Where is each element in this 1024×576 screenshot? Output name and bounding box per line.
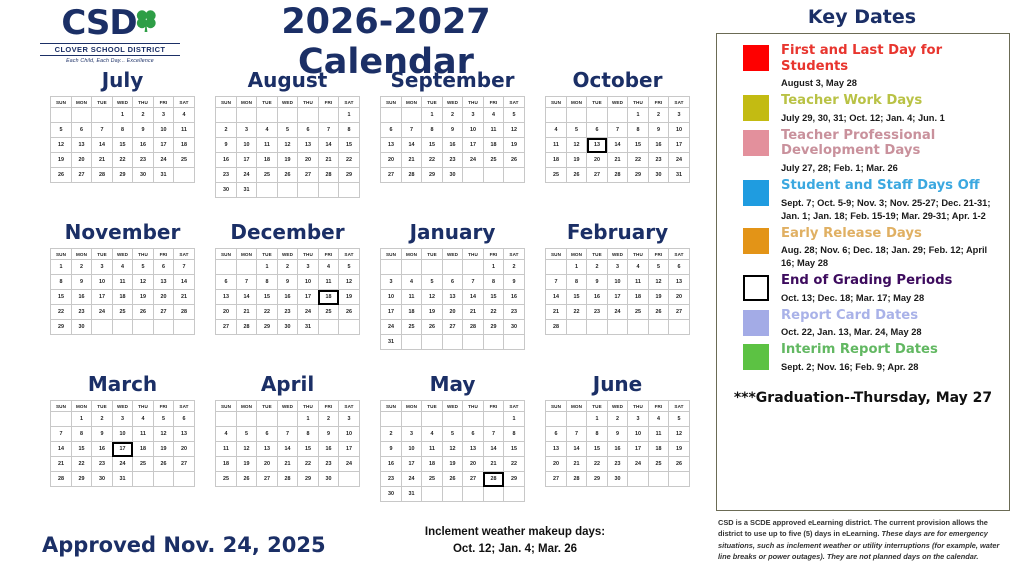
day-cell[interactable]: 15	[71, 442, 92, 457]
day-cell[interactable]: 4	[401, 275, 422, 290]
day-cell[interactable]: 23	[587, 305, 608, 320]
day-cell[interactable]: 9	[133, 123, 154, 138]
day-cell[interactable]: 24	[236, 168, 257, 183]
day-cell[interactable]: 10	[669, 123, 690, 138]
day-cell[interactable]: 10	[298, 275, 319, 290]
day-cell[interactable]: 6	[546, 427, 567, 442]
day-cell[interactable]: 23	[133, 153, 154, 168]
day-cell[interactable]: 13	[669, 275, 690, 290]
day-cell[interactable]: 15	[298, 442, 319, 457]
day-cell[interactable]: 5	[153, 412, 174, 427]
day-cell[interactable]: 15	[628, 138, 649, 153]
day-cell[interactable]: 22	[71, 457, 92, 472]
day-cell[interactable]: 16	[92, 442, 113, 457]
day-cell[interactable]: 4	[648, 412, 669, 427]
day-cell[interactable]: 14	[236, 290, 257, 305]
day-cell[interactable]: 2	[318, 412, 339, 427]
day-cell[interactable]: 4	[483, 108, 504, 123]
day-cell[interactable]: 24	[339, 457, 360, 472]
day-cell[interactable]: 17	[607, 290, 628, 305]
day-cell[interactable]: 29	[483, 320, 504, 335]
day-cell[interactable]: 30	[71, 320, 92, 335]
day-cell[interactable]: 22	[628, 153, 649, 168]
day-cell[interactable]: 26	[669, 457, 690, 472]
day-cell[interactable]: 1	[422, 108, 443, 123]
day-cell[interactable]: 20	[546, 457, 567, 472]
day-cell[interactable]: 18	[257, 153, 278, 168]
day-cell[interactable]: 15	[422, 138, 443, 153]
day-cell[interactable]: 26	[648, 305, 669, 320]
day-cell[interactable]: 19	[504, 138, 525, 153]
day-cell[interactable]: 1	[504, 412, 525, 427]
day-cell[interactable]: 5	[277, 123, 298, 138]
day-cell[interactable]: 25	[174, 153, 195, 168]
day-cell[interactable]: 9	[607, 427, 628, 442]
day-cell[interactable]: 21	[318, 153, 339, 168]
day-cell[interactable]: 16	[133, 138, 154, 153]
day-cell[interactable]: 19	[669, 442, 690, 457]
day-cell[interactable]: 28	[318, 168, 339, 183]
day-cell[interactable]: 10	[401, 442, 422, 457]
day-cell[interactable]: 9	[71, 275, 92, 290]
day-cell[interactable]: 31	[112, 472, 133, 487]
day-cell[interactable]: 11	[628, 275, 649, 290]
day-cell[interactable]: 7	[607, 123, 628, 138]
day-cell[interactable]: 1	[483, 260, 504, 275]
day-cell[interactable]: 26	[51, 168, 72, 183]
day-cell[interactable]: 27	[174, 457, 195, 472]
day-cell[interactable]: 25	[422, 472, 443, 487]
day-cell[interactable]: 21	[277, 457, 298, 472]
day-cell[interactable]: 2	[216, 123, 237, 138]
day-cell[interactable]: 4	[257, 123, 278, 138]
day-cell[interactable]: 24	[112, 457, 133, 472]
day-cell[interactable]: 21	[236, 305, 257, 320]
day-cell[interactable]: 10	[92, 275, 113, 290]
day-cell[interactable]: 18	[628, 290, 649, 305]
day-cell[interactable]: 5	[648, 260, 669, 275]
day-cell[interactable]: 8	[587, 427, 608, 442]
day-cell[interactable]: 3	[298, 260, 319, 275]
day-cell[interactable]: 20	[71, 153, 92, 168]
day-cell[interactable]: 29	[628, 168, 649, 183]
day-cell[interactable]: 7	[277, 427, 298, 442]
day-cell[interactable]: 4	[628, 260, 649, 275]
day-cell[interactable]: 9	[381, 442, 402, 457]
day-cell[interactable]: 2	[607, 412, 628, 427]
day-cell[interactable]: 13	[442, 290, 463, 305]
day-cell[interactable]: 11	[422, 442, 443, 457]
day-cell[interactable]: 16	[381, 457, 402, 472]
day-cell[interactable]: 28	[236, 320, 257, 335]
day-cell[interactable]: 27	[257, 472, 278, 487]
day-cell[interactable]: 22	[587, 457, 608, 472]
day-cell[interactable]: 29	[112, 168, 133, 183]
day-cell[interactable]: 15	[587, 442, 608, 457]
day-cell[interactable]: 1	[587, 412, 608, 427]
day-cell[interactable]: 26	[236, 472, 257, 487]
day-cell[interactable]: 10	[339, 427, 360, 442]
day-cell[interactable]: 28	[546, 320, 567, 335]
day-cell[interactable]: 30	[648, 168, 669, 183]
day-cell[interactable]: 7	[546, 275, 567, 290]
day-cell[interactable]: 2	[442, 108, 463, 123]
day-cell[interactable]: 7	[236, 275, 257, 290]
day-cell[interactable]: 27	[587, 168, 608, 183]
day-cell[interactable]: 31	[401, 487, 422, 502]
day-cell[interactable]: 18	[133, 442, 154, 457]
day-cell[interactable]: 12	[442, 442, 463, 457]
day-cell[interactable]: 17	[628, 442, 649, 457]
day-cell[interactable]: 10	[628, 427, 649, 442]
day-cell[interactable]: 13	[546, 442, 567, 457]
day-cell[interactable]: 1	[257, 260, 278, 275]
day-cell[interactable]: 12	[669, 427, 690, 442]
day-cell[interactable]: 19	[153, 442, 174, 457]
day-cell[interactable]: 19	[566, 153, 587, 168]
day-cell[interactable]: 22	[422, 153, 443, 168]
day-cell[interactable]: 30	[133, 168, 154, 183]
day-cell[interactable]: 8	[483, 275, 504, 290]
day-cell[interactable]: 14	[607, 138, 628, 153]
day-cell[interactable]: 26	[504, 153, 525, 168]
day-cell[interactable]: 3	[401, 427, 422, 442]
day-cell[interactable]: 7	[566, 427, 587, 442]
day-cell[interactable]: 2	[587, 260, 608, 275]
day-cell[interactable]: 19	[648, 290, 669, 305]
day-cell[interactable]: 2	[71, 260, 92, 275]
day-cell[interactable]: 21	[51, 457, 72, 472]
day-cell[interactable]: 1	[298, 412, 319, 427]
day-cell[interactable]: 19	[236, 457, 257, 472]
day-cell[interactable]: 10	[607, 275, 628, 290]
day-cell[interactable]: 25	[318, 305, 339, 320]
day-cell[interactable]: 5	[133, 260, 154, 275]
day-cell[interactable]: 14	[318, 138, 339, 153]
day-cell[interactable]: 20	[442, 305, 463, 320]
day-cell[interactable]: 18	[174, 138, 195, 153]
day-cell[interactable]: 1	[51, 260, 72, 275]
day-cell[interactable]: 28	[277, 472, 298, 487]
day-cell[interactable]: 3	[236, 123, 257, 138]
day-cell[interactable]: 11	[216, 442, 237, 457]
day-cell[interactable]: 4	[133, 412, 154, 427]
day-cell[interactable]: 11	[112, 275, 133, 290]
day-cell[interactable]: 26	[339, 305, 360, 320]
day-cell[interactable]: 8	[339, 123, 360, 138]
day-cell[interactable]: 28	[566, 472, 587, 487]
day-cell[interactable]: 2	[381, 427, 402, 442]
day-cell[interactable]: 9	[277, 275, 298, 290]
day-cell[interactable]: 23	[648, 153, 669, 168]
day-cell[interactable]: 14	[174, 275, 195, 290]
day-cell[interactable]: 31	[381, 335, 402, 350]
day-cell[interactable]: 23	[381, 472, 402, 487]
day-cell[interactable]: 30	[92, 472, 113, 487]
day-cell[interactable]: 16	[71, 290, 92, 305]
day-cell[interactable]: 18	[422, 457, 443, 472]
day-cell[interactable]: 9	[587, 275, 608, 290]
day-cell[interactable]: 21	[566, 457, 587, 472]
day-cell[interactable]: 23	[71, 305, 92, 320]
day-cell[interactable]: 11	[318, 275, 339, 290]
day-cell[interactable]: 5	[504, 108, 525, 123]
day-cell[interactable]: 13	[216, 290, 237, 305]
day-cell[interactable]: 13	[174, 427, 195, 442]
day-cell[interactable]: 23	[318, 457, 339, 472]
day-cell[interactable]: 1	[71, 412, 92, 427]
day-cell[interactable]: 17	[153, 138, 174, 153]
day-cell[interactable]: 22	[504, 457, 525, 472]
day-cell[interactable]: 4	[216, 427, 237, 442]
day-cell[interactable]: 2	[277, 260, 298, 275]
day-cell[interactable]: 6	[298, 123, 319, 138]
day-cell[interactable]: 18	[318, 290, 339, 305]
day-cell[interactable]: 16	[216, 153, 237, 168]
day-cell[interactable]: 17	[463, 138, 484, 153]
day-cell[interactable]: 23	[442, 153, 463, 168]
day-cell[interactable]: 14	[483, 442, 504, 457]
day-cell[interactable]: 20	[174, 442, 195, 457]
day-cell[interactable]: 3	[381, 275, 402, 290]
day-cell[interactable]: 29	[298, 472, 319, 487]
day-cell[interactable]: 26	[277, 168, 298, 183]
day-cell[interactable]: 23	[92, 457, 113, 472]
day-cell[interactable]: 11	[546, 138, 567, 153]
day-cell[interactable]: 20	[153, 290, 174, 305]
day-cell[interactable]: 27	[463, 472, 484, 487]
day-cell[interactable]: 28	[401, 168, 422, 183]
day-cell[interactable]: 14	[92, 138, 113, 153]
day-cell[interactable]: 15	[504, 442, 525, 457]
day-cell[interactable]: 14	[566, 442, 587, 457]
day-cell[interactable]: 28	[51, 472, 72, 487]
day-cell[interactable]: 6	[216, 275, 237, 290]
day-cell[interactable]: 25	[648, 457, 669, 472]
day-cell[interactable]: 6	[442, 275, 463, 290]
day-cell[interactable]: 20	[216, 305, 237, 320]
day-cell[interactable]: 5	[442, 427, 463, 442]
day-cell[interactable]: 15	[566, 290, 587, 305]
day-cell[interactable]: 14	[546, 290, 567, 305]
day-cell[interactable]: 31	[669, 168, 690, 183]
day-cell[interactable]: 24	[607, 305, 628, 320]
day-cell[interactable]: 27	[669, 305, 690, 320]
day-cell[interactable]: 30	[216, 183, 237, 198]
day-cell[interactable]: 10	[112, 427, 133, 442]
day-cell[interactable]: 16	[607, 442, 628, 457]
day-cell[interactable]: 27	[381, 168, 402, 183]
day-cell[interactable]: 3	[153, 108, 174, 123]
day-cell[interactable]: 12	[277, 138, 298, 153]
day-cell[interactable]: 1	[112, 108, 133, 123]
day-cell[interactable]: 19	[442, 457, 463, 472]
day-cell[interactable]: 24	[381, 320, 402, 335]
day-cell[interactable]: 6	[587, 123, 608, 138]
day-cell[interactable]: 24	[669, 153, 690, 168]
day-cell[interactable]: 9	[318, 427, 339, 442]
day-cell[interactable]: 9	[504, 275, 525, 290]
day-cell[interactable]: 17	[381, 305, 402, 320]
day-cell[interactable]: 22	[566, 305, 587, 320]
day-cell[interactable]: 27	[298, 168, 319, 183]
day-cell[interactable]: 12	[422, 290, 443, 305]
day-cell[interactable]: 13	[463, 442, 484, 457]
day-cell[interactable]: 18	[216, 457, 237, 472]
day-cell[interactable]: 1	[628, 108, 649, 123]
day-cell[interactable]: 8	[566, 275, 587, 290]
day-cell[interactable]: 26	[153, 457, 174, 472]
day-cell[interactable]: 10	[153, 123, 174, 138]
day-cell[interactable]: 19	[51, 153, 72, 168]
day-cell[interactable]: 16	[318, 442, 339, 457]
day-cell[interactable]: 10	[381, 290, 402, 305]
day-cell[interactable]: 21	[463, 305, 484, 320]
day-cell[interactable]: 16	[442, 138, 463, 153]
day-cell[interactable]: 16	[504, 290, 525, 305]
day-cell[interactable]: 17	[298, 290, 319, 305]
day-cell[interactable]: 1	[339, 108, 360, 123]
day-cell[interactable]: 2	[504, 260, 525, 275]
day-cell[interactable]: 12	[648, 275, 669, 290]
day-cell[interactable]: 11	[257, 138, 278, 153]
day-cell[interactable]: 3	[669, 108, 690, 123]
day-cell[interactable]: 12	[51, 138, 72, 153]
day-cell[interactable]: 28	[174, 305, 195, 320]
day-cell[interactable]: 6	[71, 123, 92, 138]
day-cell[interactable]: 6	[669, 260, 690, 275]
day-cell[interactable]: 24	[92, 305, 113, 320]
day-cell[interactable]: 22	[483, 305, 504, 320]
day-cell[interactable]: 27	[153, 305, 174, 320]
day-cell[interactable]: 16	[648, 138, 669, 153]
day-cell[interactable]: 7	[401, 123, 422, 138]
day-cell[interactable]: 18	[401, 305, 422, 320]
day-cell[interactable]: 8	[298, 427, 319, 442]
day-cell[interactable]: 13	[298, 138, 319, 153]
day-cell[interactable]: 12	[133, 275, 154, 290]
day-cell[interactable]: 27	[546, 472, 567, 487]
day-cell[interactable]: 11	[174, 123, 195, 138]
day-cell[interactable]: 12	[339, 275, 360, 290]
day-cell[interactable]: 24	[298, 305, 319, 320]
day-cell[interactable]: 13	[587, 138, 608, 153]
day-cell[interactable]: 10	[236, 138, 257, 153]
day-cell[interactable]: 11	[483, 123, 504, 138]
day-cell[interactable]: 4	[422, 427, 443, 442]
day-cell[interactable]: 5	[566, 123, 587, 138]
day-cell[interactable]: 9	[92, 427, 113, 442]
day-cell[interactable]: 18	[112, 290, 133, 305]
day-cell[interactable]: 29	[71, 472, 92, 487]
day-cell[interactable]: 25	[216, 472, 237, 487]
day-cell[interactable]: 14	[277, 442, 298, 457]
day-cell[interactable]: 7	[174, 260, 195, 275]
day-cell[interactable]: 7	[318, 123, 339, 138]
day-cell[interactable]: 30	[381, 487, 402, 502]
day-cell[interactable]: 8	[504, 427, 525, 442]
day-cell[interactable]: 22	[112, 153, 133, 168]
day-cell[interactable]: 26	[566, 168, 587, 183]
day-cell[interactable]: 23	[607, 457, 628, 472]
day-cell[interactable]: 7	[51, 427, 72, 442]
day-cell[interactable]: 16	[587, 290, 608, 305]
day-cell[interactable]: 13	[381, 138, 402, 153]
day-cell[interactable]: 16	[277, 290, 298, 305]
day-cell[interactable]: 13	[153, 275, 174, 290]
day-cell[interactable]: 14	[51, 442, 72, 457]
day-cell[interactable]: 25	[483, 153, 504, 168]
day-cell[interactable]: 23	[504, 305, 525, 320]
day-cell[interactable]: 8	[628, 123, 649, 138]
day-cell[interactable]: 13	[71, 138, 92, 153]
day-cell[interactable]: 20	[381, 153, 402, 168]
day-cell[interactable]: 27	[442, 320, 463, 335]
day-cell[interactable]: 23	[277, 305, 298, 320]
day-cell[interactable]: 19	[339, 290, 360, 305]
day-cell[interactable]: 31	[298, 320, 319, 335]
day-cell[interactable]: 6	[174, 412, 195, 427]
day-cell[interactable]: 8	[257, 275, 278, 290]
day-cell[interactable]: 12	[153, 427, 174, 442]
day-cell[interactable]: 17	[669, 138, 690, 153]
day-cell[interactable]: 20	[257, 457, 278, 472]
day-cell[interactable]: 29	[422, 168, 443, 183]
day-cell[interactable]: 30	[442, 168, 463, 183]
day-cell[interactable]: 3	[112, 412, 133, 427]
day-cell[interactable]: 19	[277, 153, 298, 168]
day-cell[interactable]: 12	[504, 123, 525, 138]
day-cell[interactable]: 12	[236, 442, 257, 457]
day-cell[interactable]: 30	[504, 320, 525, 335]
day-cell[interactable]: 15	[51, 290, 72, 305]
day-cell[interactable]: 9	[216, 138, 237, 153]
day-cell[interactable]: 2	[648, 108, 669, 123]
day-cell[interactable]: 13	[257, 442, 278, 457]
day-cell[interactable]: 7	[92, 123, 113, 138]
day-cell[interactable]: 29	[51, 320, 72, 335]
day-cell[interactable]: 3	[628, 412, 649, 427]
day-cell[interactable]: 4	[546, 123, 567, 138]
day-cell[interactable]: 25	[546, 168, 567, 183]
day-cell[interactable]: 25	[628, 305, 649, 320]
day-cell[interactable]: 6	[381, 123, 402, 138]
day-cell[interactable]: 14	[401, 138, 422, 153]
day-cell[interactable]: 28	[92, 168, 113, 183]
day-cell[interactable]: 24	[628, 457, 649, 472]
day-cell[interactable]: 8	[112, 123, 133, 138]
day-cell[interactable]: 29	[257, 320, 278, 335]
day-cell[interactable]: 18	[483, 138, 504, 153]
day-cell[interactable]: 20	[463, 457, 484, 472]
day-cell[interactable]: 4	[112, 260, 133, 275]
day-cell[interactable]: 21	[174, 290, 195, 305]
day-cell[interactable]: 4	[174, 108, 195, 123]
day-cell[interactable]: 20	[298, 153, 319, 168]
day-cell[interactable]: 24	[401, 472, 422, 487]
day-cell[interactable]: 3	[92, 260, 113, 275]
day-cell[interactable]: 25	[257, 168, 278, 183]
day-cell[interactable]: 15	[257, 290, 278, 305]
day-cell[interactable]: 22	[51, 305, 72, 320]
day-cell[interactable]: 7	[483, 427, 504, 442]
day-cell[interactable]: 29	[339, 168, 360, 183]
day-cell[interactable]: 21	[607, 153, 628, 168]
day-cell[interactable]: 25	[401, 320, 422, 335]
day-cell[interactable]: 30	[277, 320, 298, 335]
day-cell[interactable]: 6	[153, 260, 174, 275]
day-cell[interactable]: 26	[442, 472, 463, 487]
